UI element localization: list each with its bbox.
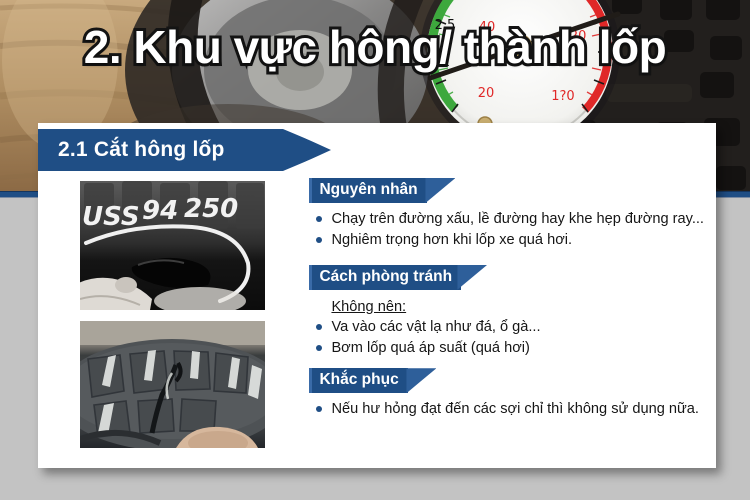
section-nguyen-nhan: Nguyên nhân Chạy trên đường xấu, lề đườn… <box>309 178 704 252</box>
list-item: Nếu hư hỏng đạt đến các sợi chỉ thì khôn… <box>315 399 704 420</box>
section-heading-wrap: Khắc phục <box>309 368 704 394</box>
bullet-list: Nếu hư hỏng đạt đến các sợi chỉ thì khôn… <box>315 399 704 420</box>
svg-text:94: 94 <box>142 196 178 226</box>
list-item: Va vào các vật lạ như đá, ổ gà... <box>315 317 704 338</box>
card-body: USS 94 250 <box>38 171 716 468</box>
svg-text:250: 250 <box>184 194 238 224</box>
subnote-wrap: Không nên: <box>309 296 704 317</box>
section-heading-label: Khắc phục <box>309 368 407 393</box>
subnote-label: Không nên: <box>331 299 406 315</box>
list-item: Chạy trên đường xấu, lề đường hay khe hẹ… <box>315 209 704 230</box>
section-banner: 2.1 Cắt hông lốp <box>38 129 333 171</box>
tire-tread-cut-photo <box>80 321 265 448</box>
section-heading-wrap: Cách phòng tránh <box>309 265 704 291</box>
tire-sidewall-cut-photo: USS 94 250 <box>80 181 265 310</box>
list-item: Bơm lốp quá áp suất (quá hơi) <box>315 338 704 359</box>
svg-text:1?0: 1?0 <box>551 89 574 104</box>
text-column: Nguyên nhân Chạy trên đường xấu, lề đườn… <box>281 171 716 468</box>
heading-arrow-icon <box>406 368 436 393</box>
image-column: USS 94 250 <box>38 171 281 468</box>
section-heading-label: Cách phòng tránh <box>309 265 461 290</box>
section-cach-phong-tranh: Cách phòng tránh Không nên: Va vào các v… <box>309 265 704 360</box>
section-heading-label: Nguyên nhân <box>309 178 426 203</box>
heading-arrow-icon <box>425 178 455 203</box>
section-khac-phuc: Khắc phục Nếu hư hỏng đạt đến các sợi ch… <box>309 368 704 420</box>
list-item: Nghiêm trọng hơn khi lốp xe quá hơi. <box>315 230 704 251</box>
bullet-list: Chạy trên đường xấu, lề đường hay khe hẹ… <box>315 209 704 252</box>
content-card: 2.1 Cắt hông lốp <box>38 123 716 468</box>
svg-text:USS: USS <box>82 202 140 232</box>
svg-text:20: 20 <box>478 86 495 101</box>
heading-arrow-icon <box>457 265 487 290</box>
section-heading-wrap: Nguyên nhân <box>309 178 704 204</box>
section-banner-label: 2.1 Cắt hông lốp <box>58 138 225 162</box>
page-title: 2. Khu vực hông/ thành lốp <box>0 21 750 74</box>
bullet-list: Va vào các vật lạ như đá, ổ gà... Bơm lố… <box>315 317 704 360</box>
